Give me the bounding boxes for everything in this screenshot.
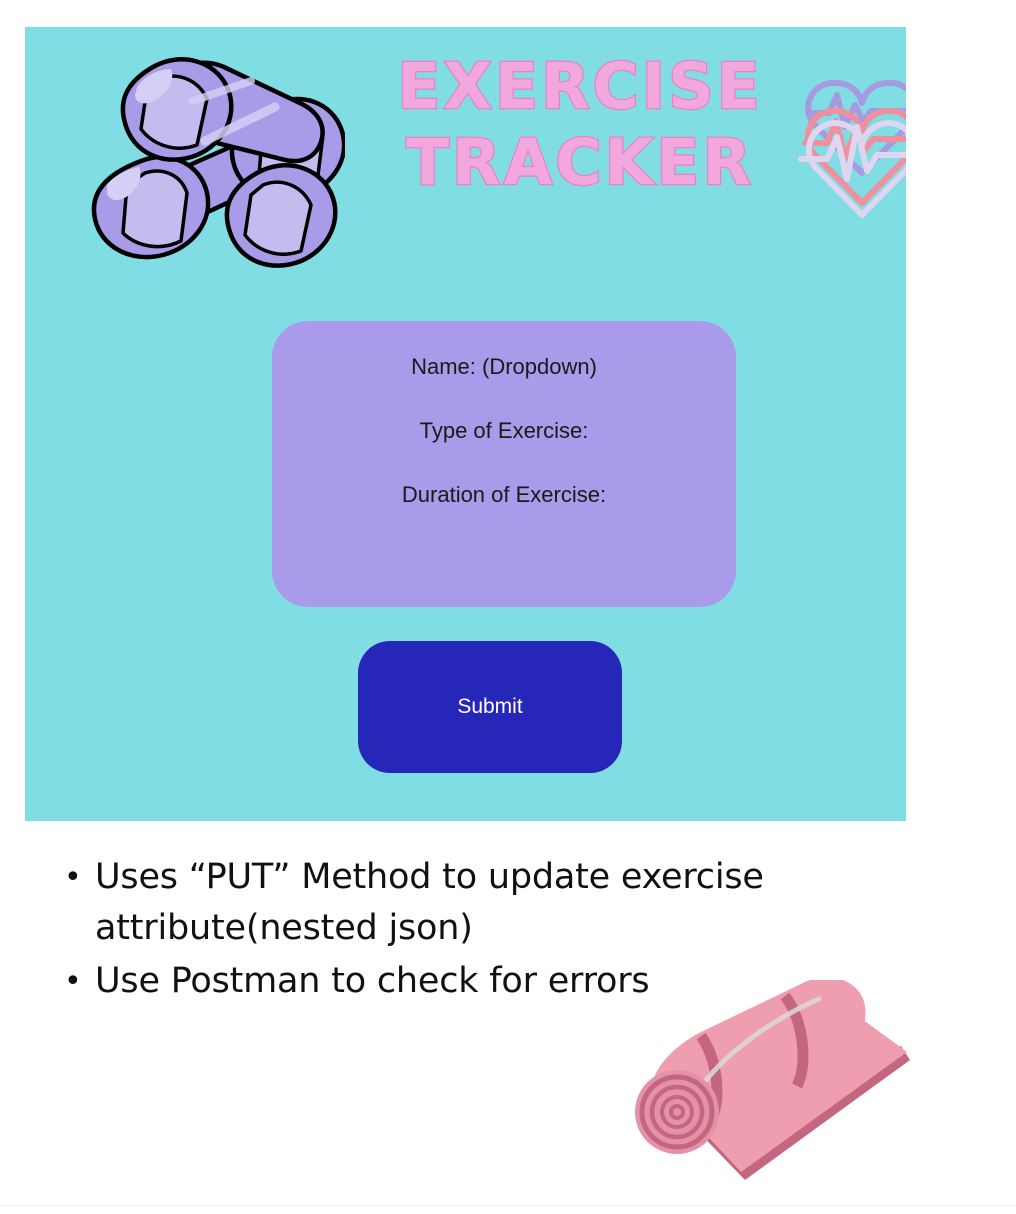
- exercise-form-card: Name: (Dropdown) Type of Exercise: Durat…: [272, 321, 736, 607]
- yoga-mat-icon: [625, 980, 915, 1180]
- hero-panel: EXERCISE TRACKER Name: (Dropdown) Type o…: [25, 27, 906, 821]
- field-duration-of-exercise[interactable]: Duration of Exercise:: [272, 484, 736, 506]
- heart-pulse-icon: [787, 55, 906, 220]
- field-type-of-exercise[interactable]: Type of Exercise:: [272, 420, 736, 442]
- page-title: EXERCISE TRACKER: [355, 49, 805, 201]
- bottom-divider: [0, 1205, 1016, 1206]
- title-line-1: EXERCISE: [355, 49, 805, 125]
- field-name-dropdown[interactable]: Name: (Dropdown): [272, 356, 736, 378]
- list-item: Use Postman to check for errors: [95, 956, 885, 1007]
- title-line-2: TRACKER: [355, 125, 805, 201]
- submit-button[interactable]: Submit: [358, 641, 622, 773]
- list-item: Uses “PUT” Method to update exercise att…: [95, 852, 885, 954]
- notes-bullet-list: Uses “PUT” Method to update exercise att…: [55, 852, 885, 1009]
- dumbbells-icon: [45, 45, 345, 280]
